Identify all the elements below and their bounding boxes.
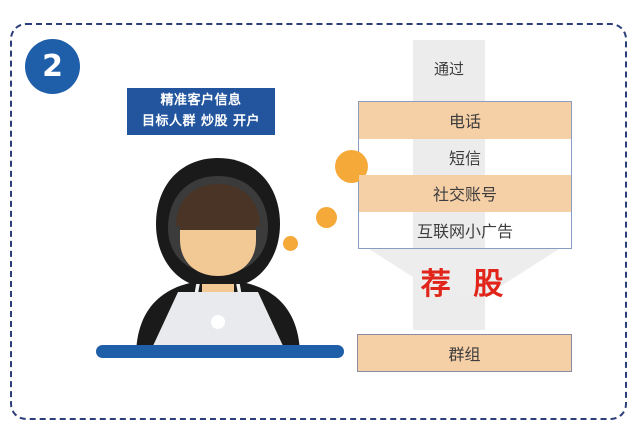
caption-line-2: 目标人群 炒股 开户 <box>142 112 260 132</box>
stock-recommendation-headline: 荐 股 <box>358 270 572 300</box>
group-box: 群组 <box>357 334 572 372</box>
channel-row-sms: 短信 <box>359 139 571 176</box>
orange-dot-medium <box>316 207 337 228</box>
channel-row-social-account: 社交账号 <box>359 175 571 212</box>
desk-bar <box>96 345 344 358</box>
hooded-hacker-illustration <box>118 152 318 357</box>
infographic-canvas: 2 精准客户信息 目标人群 炒股 开户 通过 电话 短信 社交账号 互联网小广告… <box>0 0 640 434</box>
eye-shadow-band <box>180 216 256 230</box>
channel-list-box: 电话 短信 社交账号 互联网小广告 <box>358 101 572 249</box>
target-customer-caption-box: 精准客户信息 目标人群 炒股 开户 <box>127 88 275 135</box>
channel-row-internet-ads: 互联网小广告 <box>359 212 571 249</box>
caption-line-1: 精准客户信息 <box>160 91 241 111</box>
channel-row-phone: 电话 <box>359 102 571 139</box>
laptop-logo-icon <box>211 315 225 329</box>
through-label: 通过 <box>413 58 485 79</box>
step-number-badge: 2 <box>25 39 80 94</box>
